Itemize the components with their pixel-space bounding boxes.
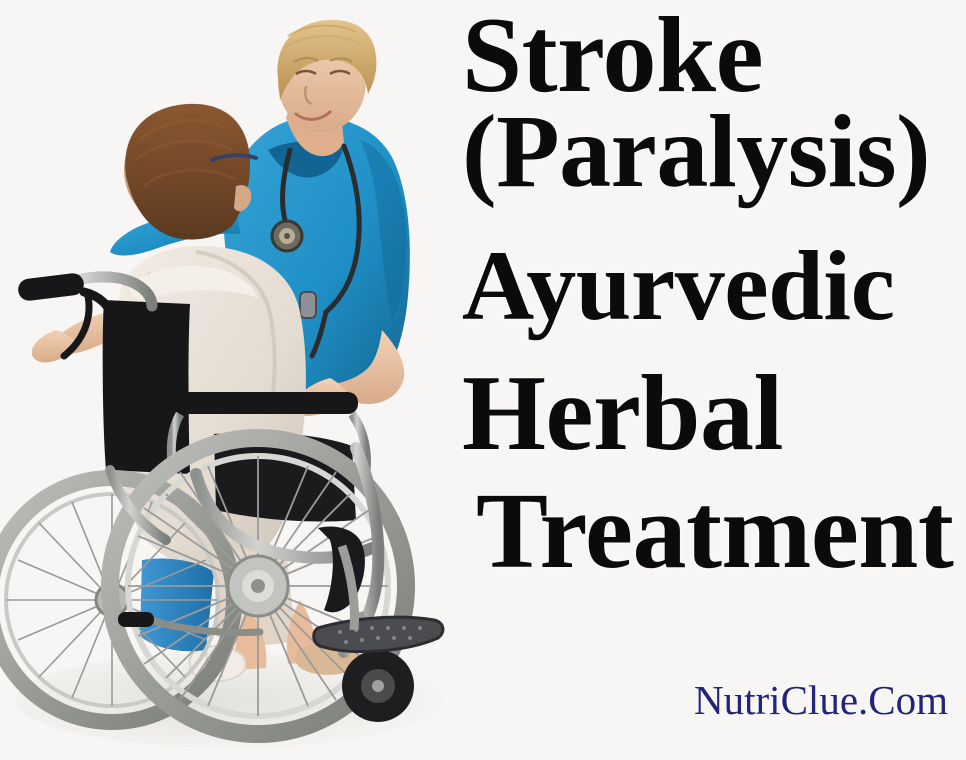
- wheelchair-armrest-pad: [178, 392, 358, 414]
- photo-wheelchair-nurse: [0, 0, 520, 760]
- title-line-5: Treatment: [476, 470, 953, 594]
- caster-axle: [372, 680, 384, 692]
- stethoscope-clip: [300, 292, 316, 318]
- headline-block: Stroke (Paralysis) Ayurvedic Herbal Trea…: [462, 0, 962, 620]
- title-line-2: (Paralysis): [462, 92, 930, 211]
- title-line-3: Ayurvedic: [462, 228, 894, 343]
- stethoscope-center: [284, 233, 290, 239]
- site-watermark: NutriClue.Com: [694, 676, 948, 724]
- front-axle: [251, 579, 265, 593]
- wheelchair-backrest: [103, 300, 190, 474]
- axle-end-cap: [118, 612, 154, 627]
- banner-canvas: Stroke (Paralysis) Ayurvedic Herbal Trea…: [0, 0, 966, 760]
